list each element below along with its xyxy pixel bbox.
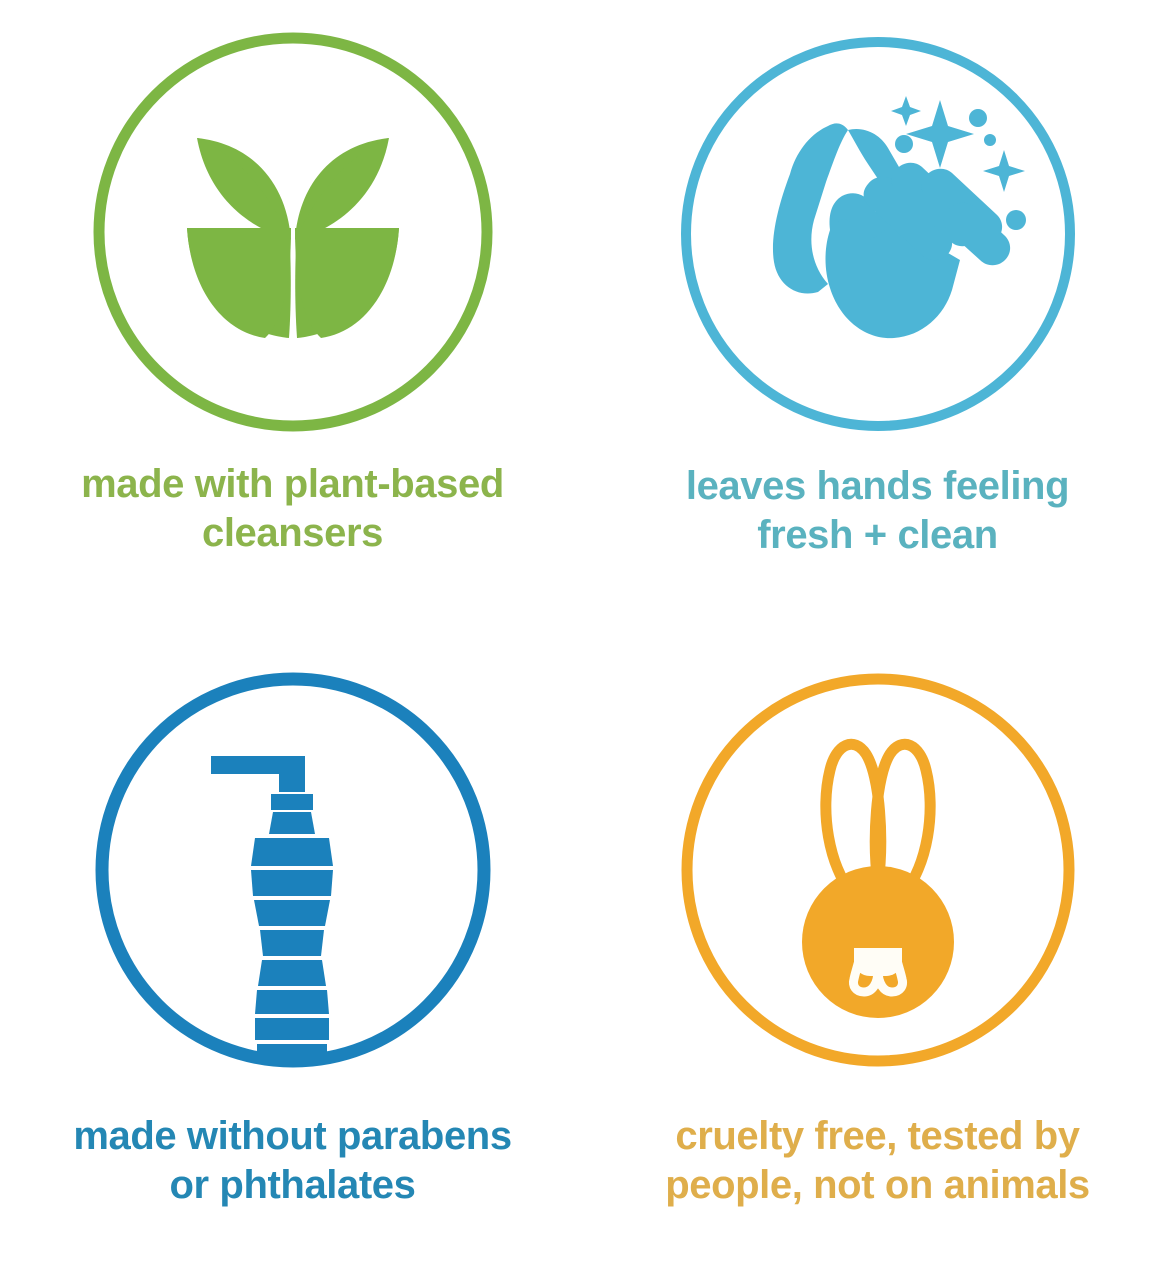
badge-cruelty-free: cruelty free, tested by people, not on a… (585, 630, 1170, 1260)
badge-caption: made with plant-based cleansers (81, 460, 504, 558)
badge-caption: leaves hands feeling fresh + clean (686, 462, 1069, 560)
badge-plant-based: made with plant-based cleansers (0, 0, 585, 630)
badge-no-parabens: made without parabens or phthalates (0, 630, 585, 1260)
plant-leaves-icon (93, 32, 493, 432)
badge-grid: made with plant-based cleansers (0, 0, 1170, 1286)
washing-hands-sparkle-icon (678, 34, 1078, 434)
badge-caption: cruelty free, tested by people, not on a… (665, 1112, 1090, 1210)
soap-pump-bottle-icon (93, 670, 493, 1070)
badge-fresh-clean: leaves hands feeling fresh + clean (585, 0, 1170, 630)
badge-caption: made without parabens or phthalates (73, 1112, 511, 1210)
bunny-rabbit-head-icon (678, 670, 1078, 1070)
